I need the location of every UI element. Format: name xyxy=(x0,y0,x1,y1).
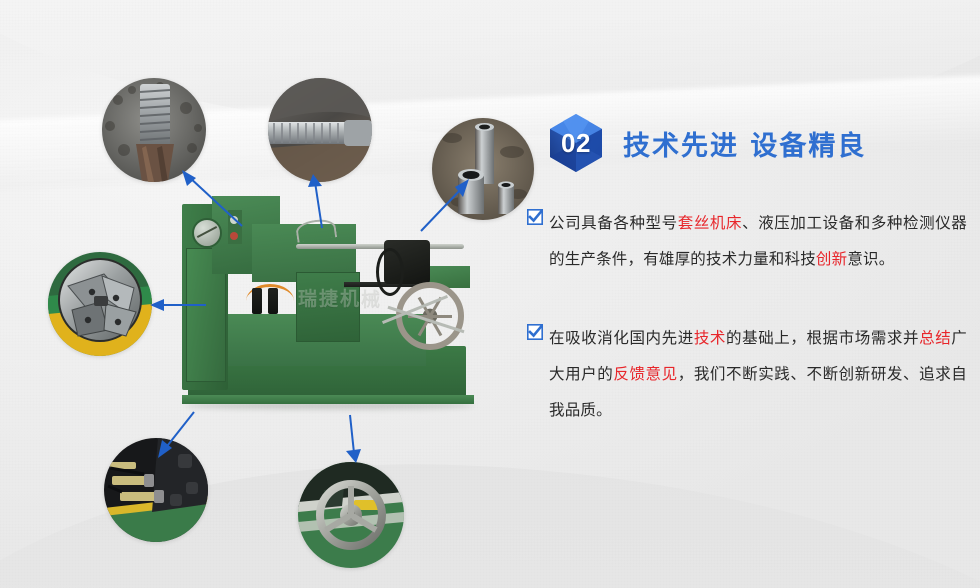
arrow-to-threaded-bar xyxy=(300,172,340,230)
arrow-to-valves xyxy=(148,410,208,460)
text-content-panel: 02 技术先进 设备精良 公司具备各种型号套丝机床、液压加工设备和多种检测仪器的… xyxy=(505,0,980,588)
highlighted-text: 技术 xyxy=(694,329,726,347)
arrow-to-cutter-head xyxy=(148,295,208,315)
body-text: 在吸收消化国内先进 xyxy=(549,329,694,347)
arrow-to-handwheel xyxy=(330,415,370,465)
detail-handwheel xyxy=(298,462,404,568)
detail-cutter-head xyxy=(48,252,152,356)
section-heading: 02 技术先进 设备精良 xyxy=(545,112,866,174)
bullet-text-2: 在吸收消化国内先进技术的基础上，根据市场需求并总结广大用户的反馈意见，我们不断实… xyxy=(549,320,967,428)
detail-threaded-bar xyxy=(268,78,372,182)
body-text: 的基础上，根据市场需求并 xyxy=(726,329,919,347)
checkbox-checked-icon xyxy=(527,324,543,340)
body-text: 公司具备各种型号 xyxy=(549,214,678,232)
promo-banner: 瑞捷机械 xyxy=(0,0,980,588)
photo-watermark: 瑞捷机械 xyxy=(280,284,400,311)
badge-number: 02 xyxy=(545,112,607,174)
body-text: 意识。 xyxy=(847,250,894,268)
detail-threaded-rod-closeup xyxy=(102,78,206,182)
bullet-item-2: 在吸收消化国内先进技术的基础上，根据市场需求并总结广大用户的反馈意见，我们不断实… xyxy=(527,320,967,428)
highlighted-text: 反馈意见 xyxy=(613,365,677,383)
bullet-item-1: 公司具备各种型号套丝机床、液压加工设备和多种检测仪器的生产条件，有雄厚的技术力量… xyxy=(527,205,967,277)
bullet-text-1: 公司具备各种型号套丝机床、液压加工设备和多种检测仪器的生产条件，有雄厚的技术力量… xyxy=(549,205,967,277)
hexagon-badge-icon: 02 xyxy=(545,112,607,174)
highlighted-text: 总结 xyxy=(919,329,951,347)
highlighted-text: 套丝机床 xyxy=(678,214,742,232)
arrow-to-threaded-rod xyxy=(170,168,290,230)
machine-handwheel-icon xyxy=(396,282,464,350)
arrow-to-pipe-ends xyxy=(415,175,475,235)
checkbox-checked-icon xyxy=(527,209,543,225)
highlighted-text: 创新 xyxy=(816,250,847,268)
product-photo-collage: 瑞捷机械 xyxy=(0,0,520,588)
page-title: 技术先进 设备精良 xyxy=(623,124,866,163)
